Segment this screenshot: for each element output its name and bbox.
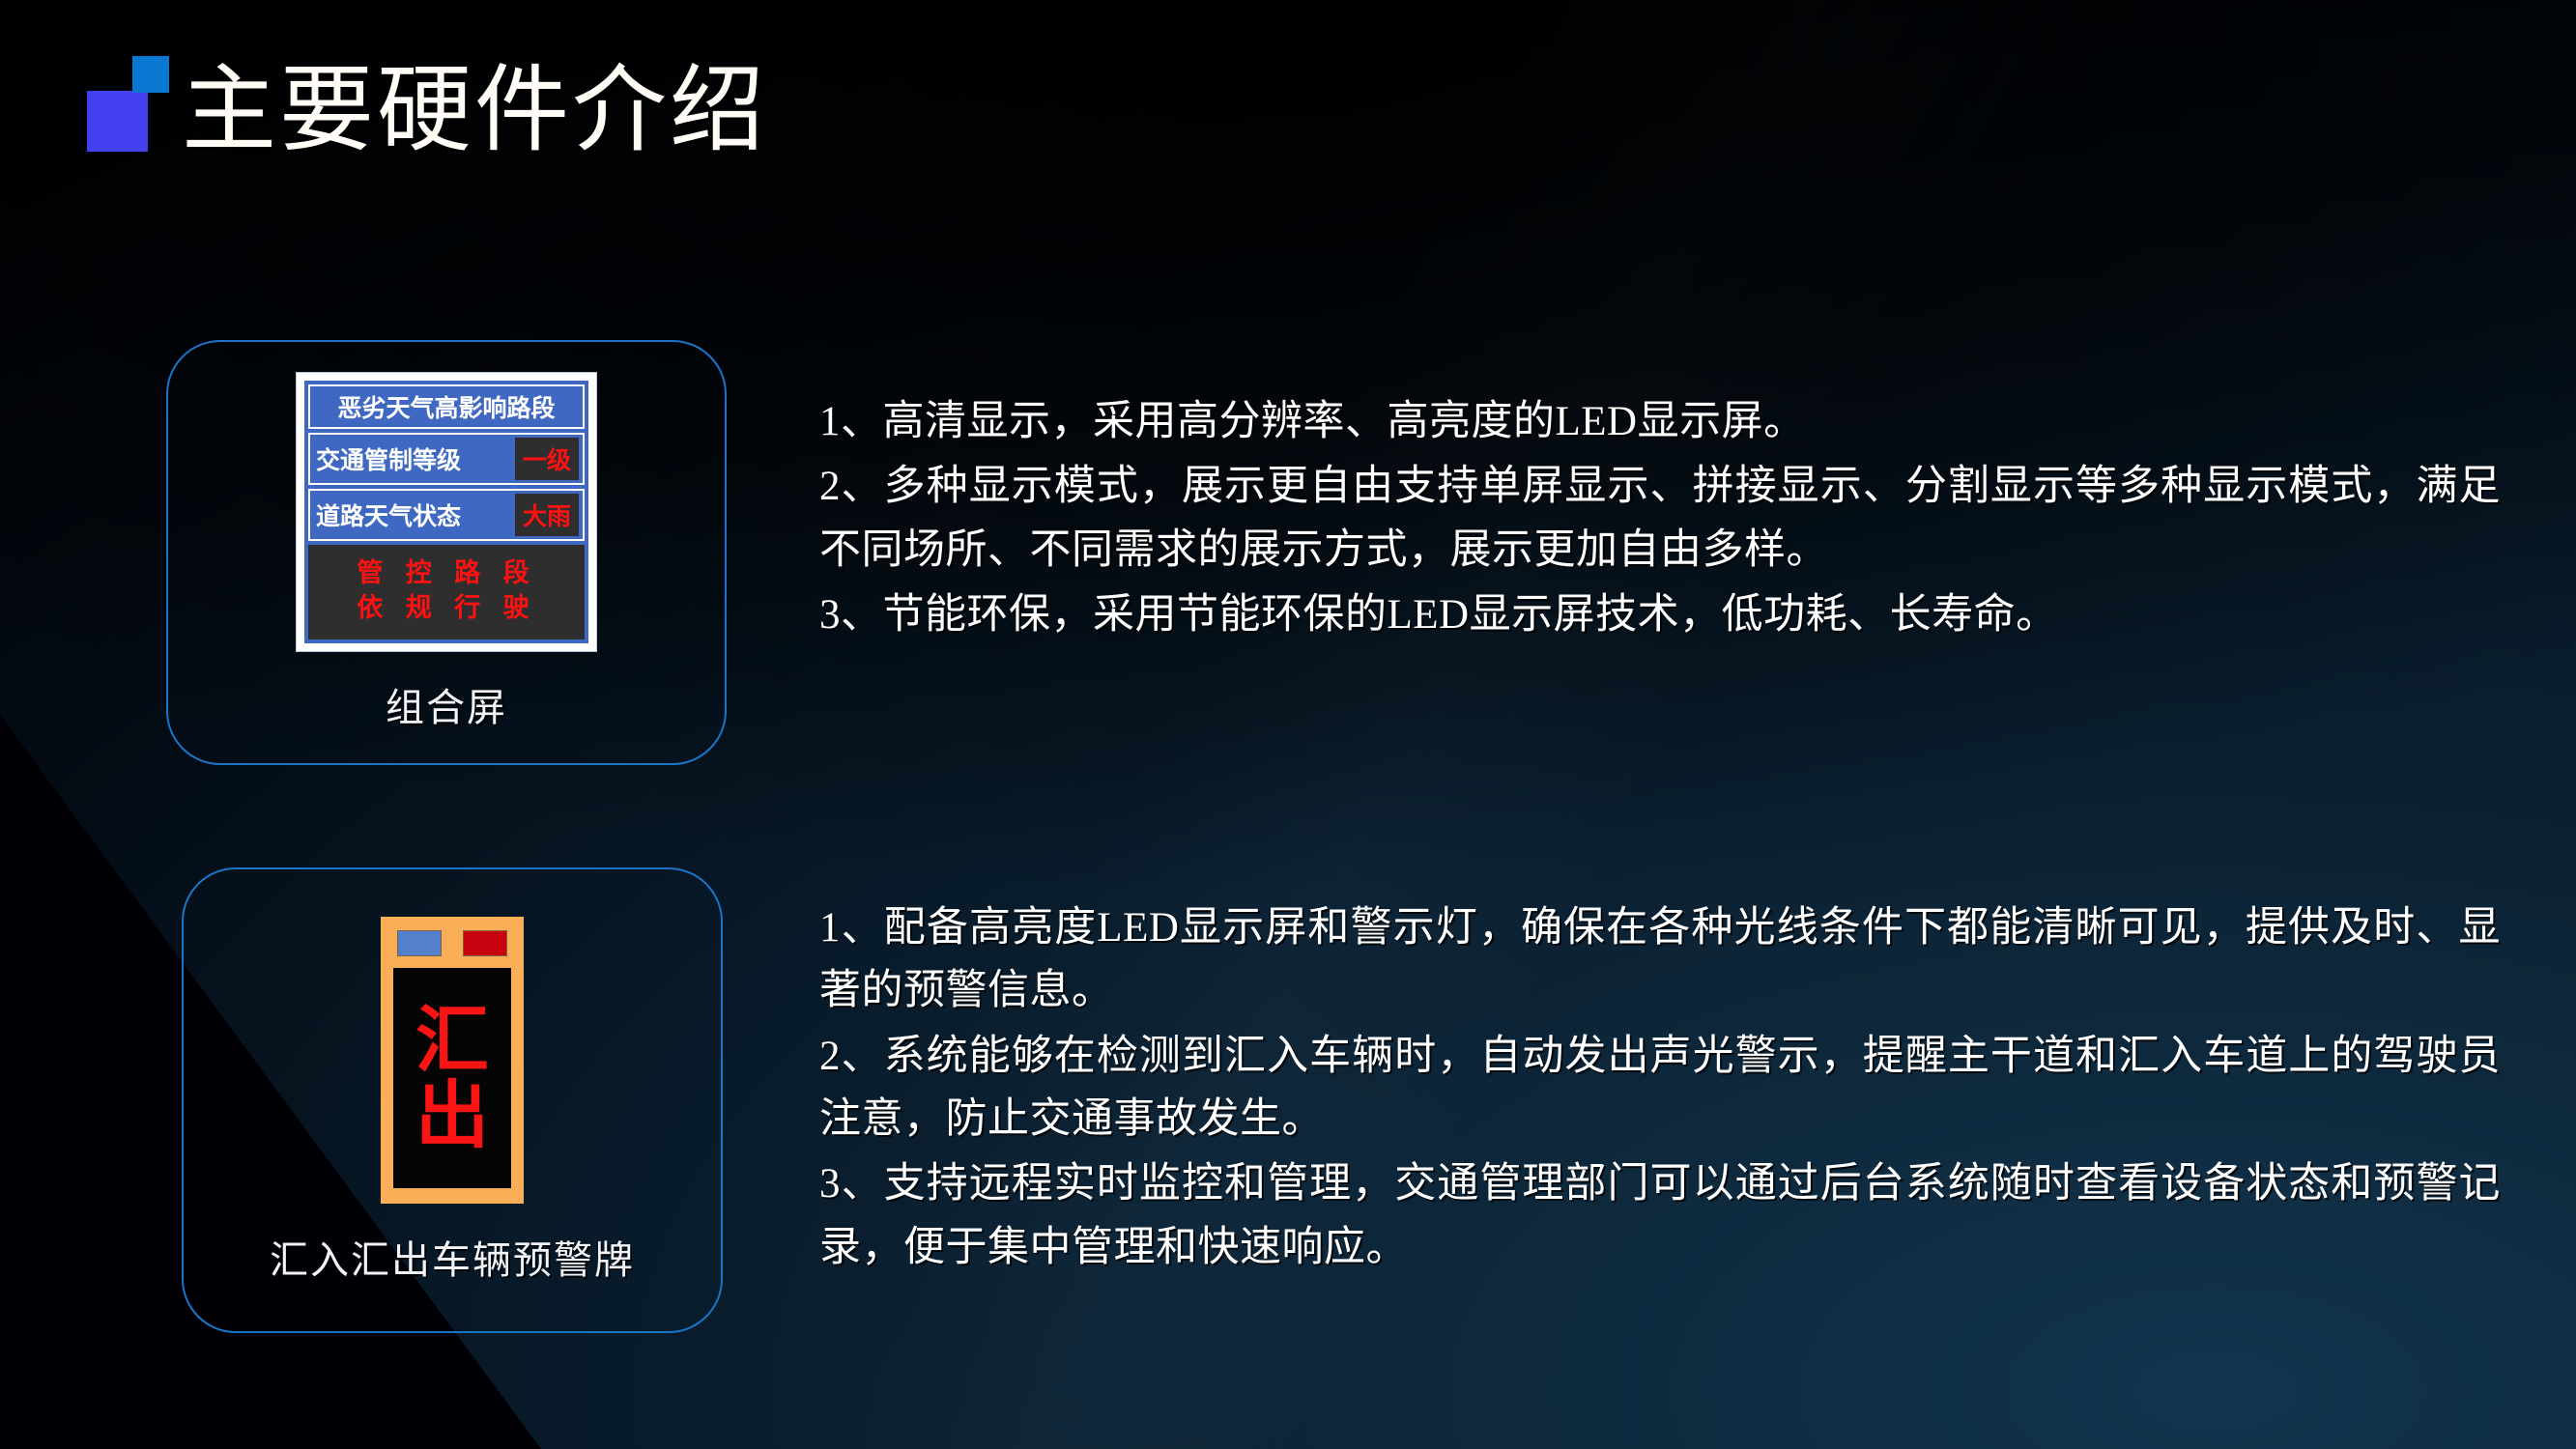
logo-square-large xyxy=(87,91,148,152)
sign-label-weather-state: 道路天气状态 xyxy=(314,494,509,536)
sign-value-control-level: 一级 xyxy=(515,438,579,480)
feature-item: 2、多种显示模式，展示更自由支持单屏显示、拼接显示、分割显示等多种显示模式，满足… xyxy=(819,455,2501,582)
sign-header-text: 恶劣天气高影响路段 xyxy=(337,389,555,424)
sign-message-panel: 管 控 路 段 依 规 行 驶 xyxy=(308,545,585,639)
card-caption-merge-warning-board: 汇入汇出车辆预警牌 xyxy=(270,1229,635,1285)
logo-squares-icon xyxy=(68,56,160,151)
merge-warning-board: 汇 出 xyxy=(381,917,524,1204)
sign-label-control-level: 交通管制等级 xyxy=(314,438,509,480)
hardware-card-merge-warning-board: 汇 出 汇入汇出车辆预警牌 xyxy=(182,867,723,1333)
slide-title-row: 主要硬件介绍 xyxy=(68,56,767,158)
feature-item: 1、高清显示，采用高分辨率、高亮度的LED显示屏。 xyxy=(819,390,2501,453)
board-led-screen: 汇 出 xyxy=(393,968,511,1188)
sign-value-weather-state: 大雨 xyxy=(515,494,579,536)
feature-list-combo-screen: 1、高清显示，采用高分辨率、高亮度的LED显示屏。 2、多种显示模式，展示更自由… xyxy=(819,390,2501,648)
combo-led-sign-inner: 恶劣天气高影响路段 交通管制等级 一级 道路天气状态 大雨 管 控 路 段 依 … xyxy=(301,378,591,645)
feature-item: 3、支持远程实时监控和管理，交通管理部门可以通过后台系统随时查看设备状态和预警记… xyxy=(819,1152,2501,1279)
feature-item: 2、系统能够在检测到汇入车辆时，自动发出声光警示，提醒主干道和汇入车道上的驾驶员… xyxy=(819,1025,2501,1151)
lamp-red-icon xyxy=(463,930,507,956)
logo-square-small xyxy=(132,56,169,93)
sign-row-control-level: 交通管制等级 一级 xyxy=(308,433,585,485)
sign-message-line-2: 依 规 行 驶 xyxy=(314,591,579,626)
combo-led-sign: 恶劣天气高影响路段 交通管制等级 一级 道路天气状态 大雨 管 控 路 段 依 … xyxy=(297,373,596,650)
feature-item: 1、配备高亮度LED显示屏和警示灯，确保在各种光线条件下都能清晰可见，提供及时、… xyxy=(819,896,2501,1023)
sign-header-row: 恶劣天气高影响路段 xyxy=(308,384,585,429)
hardware-card-combo-screen: 恶劣天气高影响路段 交通管制等级 一级 道路天气状态 大雨 管 控 路 段 依 … xyxy=(166,340,727,765)
board-screen-char-1: 汇 xyxy=(415,1003,489,1078)
lamp-blue-icon xyxy=(397,930,442,956)
card-caption-combo-screen: 组合屏 xyxy=(386,676,507,732)
slide-canvas: 主要硬件介绍 恶劣天气高影响路段 交通管制等级 一级 道路天气状态 大雨 管 控… xyxy=(0,0,2576,1449)
sign-message-line-1: 管 控 路 段 xyxy=(314,556,579,591)
board-screen-char-2: 出 xyxy=(415,1078,489,1153)
sign-row-weather-state: 道路天气状态 大雨 xyxy=(308,489,585,541)
board-lamp-row xyxy=(393,930,511,956)
feature-item: 3、节能环保，采用节能环保的LED显示屏技术，低功耗、长寿命。 xyxy=(819,583,2501,646)
page-title: 主要硬件介绍 xyxy=(182,64,767,158)
feature-list-merge-warning-board: 1、配备高亮度LED显示屏和警示灯，确保在各种光线条件下都能清晰可见，提供及时、… xyxy=(819,896,2501,1281)
